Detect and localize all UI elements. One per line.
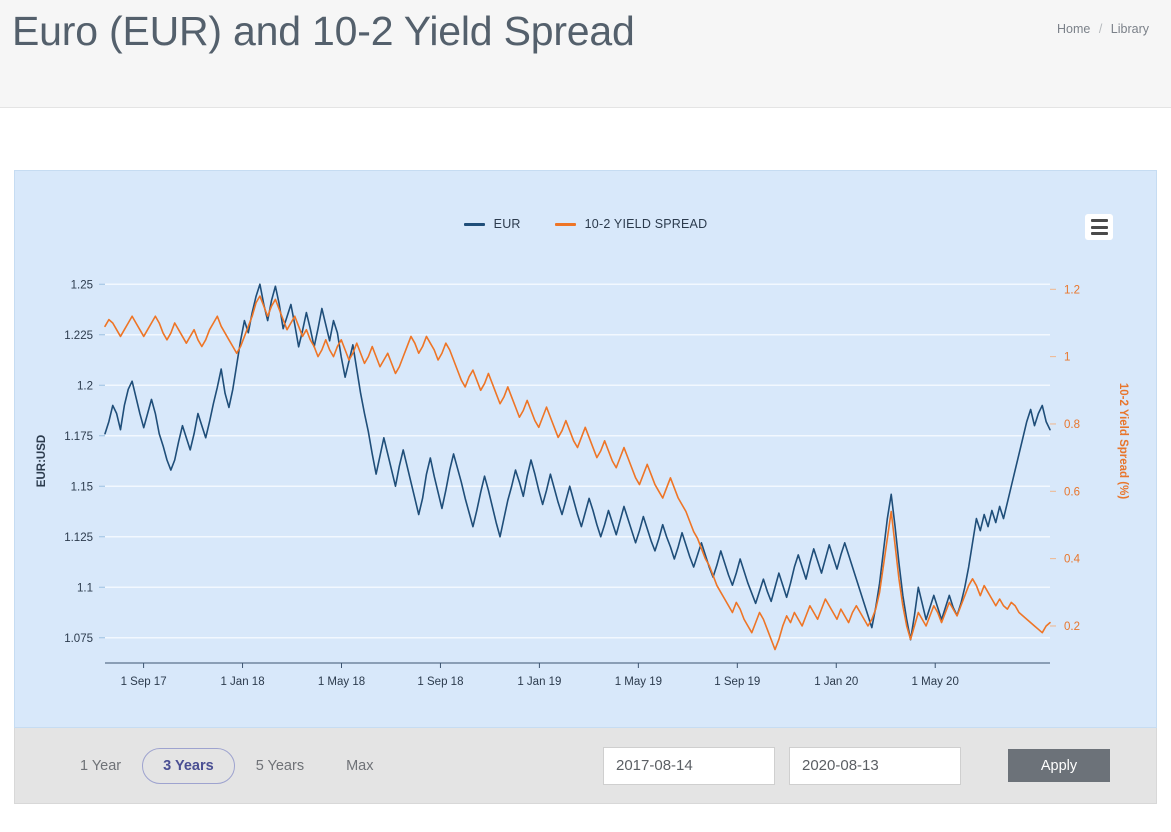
x-axis-ticks: 1 Sep 171 Jan 181 May 181 Sep 181 Jan 19… xyxy=(121,663,959,688)
chart-panel: 1.251.2251.21.1751.151.1251.11.075 1.210… xyxy=(14,170,1157,728)
breadcrumb: Home / Library xyxy=(1057,22,1149,36)
x-axis-tick-label: 1 Sep 17 xyxy=(121,676,167,688)
legend-swatch-yield-spread xyxy=(555,223,576,226)
x-axis-tick-label: 1 May 19 xyxy=(615,676,662,688)
chart-plot-area: 1.251.2251.21.1751.151.1251.11.075 1.210… xyxy=(15,171,1156,727)
right-axis-tick-label: 1.2 xyxy=(1064,284,1080,296)
date-range-controls: Apply xyxy=(603,747,1110,785)
chart-series xyxy=(105,284,1050,649)
series-line-eur xyxy=(105,284,1050,640)
left-axis-tick-label: 1.125 xyxy=(64,532,93,544)
x-axis-tick-label: 1 May 18 xyxy=(318,676,365,688)
chart-controls-bar: 1 Year 3 Years 5 Years Max Apply xyxy=(14,728,1157,804)
legend-swatch-eur xyxy=(464,223,485,226)
left-axis-tick-label: 1.25 xyxy=(71,279,93,291)
range-button-5-years[interactable]: 5 Years xyxy=(235,748,325,784)
left-axis-ticks: 1.251.2251.21.1751.151.1251.11.075 xyxy=(64,279,105,645)
hamburger-bar xyxy=(1091,232,1108,235)
breadcrumb-current: Library xyxy=(1111,22,1149,36)
legend-item-yield-spread[interactable]: 10-2 YIELD SPREAD xyxy=(555,217,708,231)
right-axis-tick-label: 0.2 xyxy=(1064,621,1080,633)
hamburger-bar xyxy=(1091,226,1108,229)
range-button-1-year[interactable]: 1 Year xyxy=(59,748,142,784)
range-button-max[interactable]: Max xyxy=(325,748,394,784)
start-date-input[interactable] xyxy=(603,747,775,785)
left-axis-tick-label: 1.225 xyxy=(64,330,93,342)
breadcrumb-home-link[interactable]: Home xyxy=(1057,22,1090,36)
apply-button[interactable]: Apply xyxy=(1008,749,1110,782)
x-axis-tick-label: 1 May 20 xyxy=(912,676,959,688)
range-button-group: 1 Year 3 Years 5 Years Max xyxy=(59,748,394,784)
legend-label-yield-spread: 10-2 YIELD SPREAD xyxy=(585,217,708,231)
left-axis-tick-label: 1.175 xyxy=(64,431,93,443)
x-axis-tick-label: 1 Jan 20 xyxy=(814,676,858,688)
x-axis-tick-label: 1 Sep 18 xyxy=(417,676,463,688)
page-header: Euro (EUR) and 10-2 Yield Spread Home / … xyxy=(0,0,1171,108)
right-axis-tick-label: 0.8 xyxy=(1064,419,1080,431)
x-axis-tick-label: 1 Jan 18 xyxy=(220,676,264,688)
series-line-10-2-yield-spread xyxy=(105,296,1050,650)
left-axis-title: EUR:USD xyxy=(36,435,48,487)
hamburger-bar xyxy=(1091,219,1108,222)
legend-label-eur: EUR xyxy=(494,217,521,231)
left-axis-tick-label: 1.075 xyxy=(64,633,93,645)
page-title: Euro (EUR) and 10-2 Yield Spread xyxy=(12,8,635,55)
x-axis-tick-label: 1 Sep 19 xyxy=(714,676,760,688)
legend-item-eur[interactable]: EUR xyxy=(464,217,521,231)
left-axis-tick-label: 1.2 xyxy=(77,380,93,392)
right-axis-tick-label: 0.4 xyxy=(1064,554,1081,566)
right-axis-tick-label: 1 xyxy=(1064,352,1070,364)
range-button-3-years[interactable]: 3 Years xyxy=(142,748,235,784)
right-axis-ticks: 1.210.80.60.40.2 xyxy=(1050,284,1081,633)
left-axis-tick-label: 1.15 xyxy=(71,481,93,493)
chart-svg: 1.251.2251.21.1751.151.1251.11.075 1.210… xyxy=(15,171,1158,729)
chart-legend: EUR 10-2 YIELD SPREAD xyxy=(15,217,1156,231)
end-date-input[interactable] xyxy=(789,747,961,785)
x-axis-tick-label: 1 Jan 19 xyxy=(517,676,561,688)
left-axis-tick-label: 1.1 xyxy=(77,582,93,594)
right-axis-tick-label: 0.6 xyxy=(1064,486,1080,498)
hamburger-menu-icon[interactable] xyxy=(1085,214,1113,240)
right-axis-title: 10-2 Yield Spread (%) xyxy=(1117,383,1129,499)
chart-gridlines xyxy=(105,284,1050,638)
breadcrumb-separator: / xyxy=(1099,22,1102,36)
